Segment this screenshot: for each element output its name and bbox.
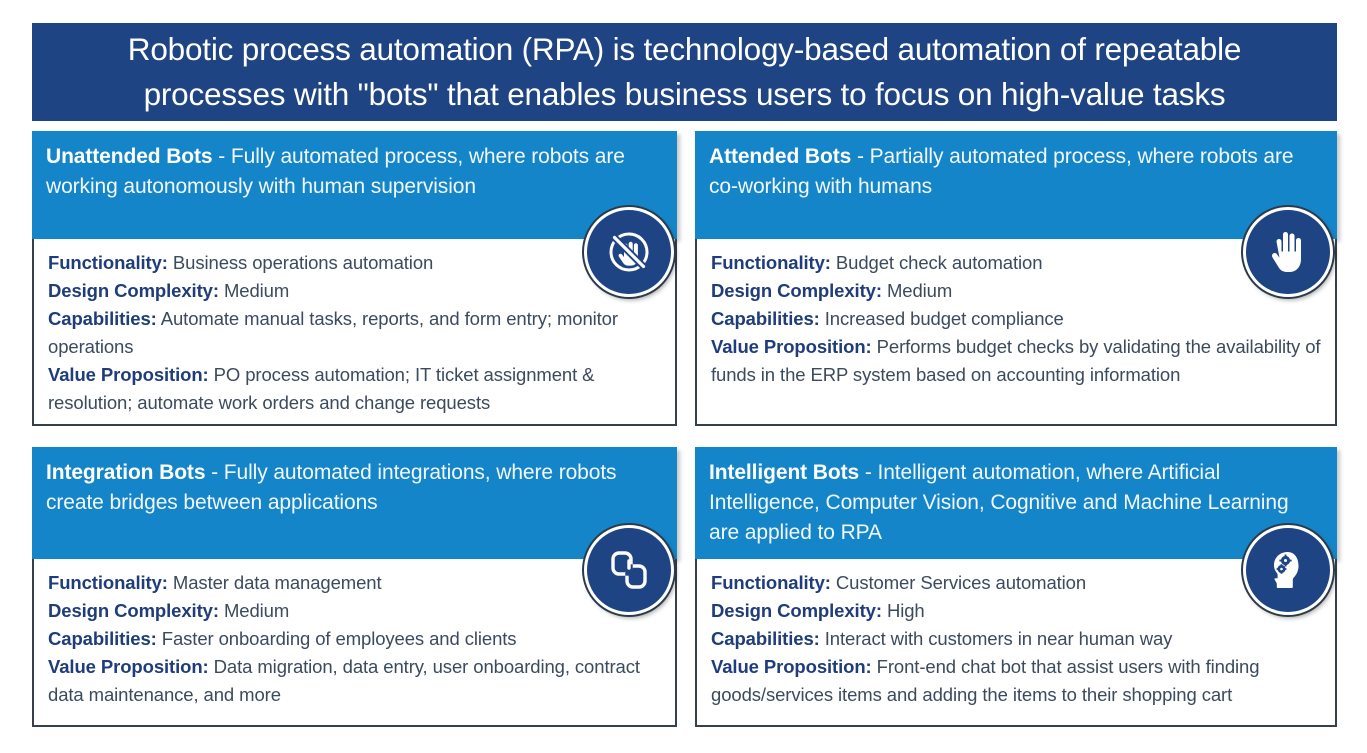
label-capabilities: Capabilities: [711, 628, 820, 649]
card-header-integration: Integration Bots - Fully automated integ… [32, 447, 677, 559]
header-banner: Robotic process automation (RPA) is tech… [32, 23, 1337, 121]
card-body-integration: Functionality: Master data management De… [32, 559, 677, 727]
page-title: Robotic process automation (RPA) is tech… [58, 27, 1311, 117]
card-title-dash: - [859, 461, 877, 484]
card-header-intelligent: Intelligent Bots - Intelligent automatio… [695, 447, 1337, 559]
card-attended-bots: Attended Bots - Partially automated proc… [695, 131, 1337, 426]
label-design-complexity: Design Complexity: [48, 600, 219, 621]
label-value-proposition: Value Proposition: [711, 656, 872, 677]
label-capabilities: Capabilities: [48, 628, 157, 649]
card-body-unattended: Functionality: Business operations autom… [32, 239, 677, 426]
card-title-text: Attended Bots [709, 145, 851, 168]
label-capabilities: Capabilities: [711, 308, 820, 329]
card-title-intelligent: Intelligent Bots - Intelligent automatio… [709, 458, 1323, 548]
value-design-complexity: Medium [224, 600, 289, 621]
row-functionality: Functionality: Customer Services automat… [711, 569, 1321, 597]
row-design-complexity: Design Complexity: Medium [711, 277, 1321, 305]
card-intelligent-bots: Intelligent Bots - Intelligent automatio… [695, 447, 1337, 727]
row-value-proposition: Value Proposition: Performs budget check… [711, 333, 1321, 389]
value-functionality: Customer Services automation [836, 572, 1086, 593]
row-design-complexity: Design Complexity: High [711, 597, 1321, 625]
row-functionality: Functionality: Business operations autom… [48, 249, 661, 277]
card-title-unattended: Unattended Bots - Fully automated proces… [46, 142, 663, 202]
value-capabilities: Faster onboarding of employees and clien… [162, 628, 517, 649]
value-functionality: Budget check automation [836, 252, 1042, 273]
label-value-proposition: Value Proposition: [48, 656, 209, 677]
card-header-unattended: Unattended Bots - Fully automated proces… [32, 131, 677, 239]
label-design-complexity: Design Complexity: [711, 600, 882, 621]
card-title-attended: Attended Bots - Partially automated proc… [709, 142, 1323, 202]
value-design-complexity: Medium [887, 280, 952, 301]
card-integration-bots: Integration Bots - Fully automated integ… [32, 447, 677, 727]
value-capabilities: Increased budget compliance [825, 308, 1064, 329]
card-title-text: Intelligent Bots [709, 461, 859, 484]
row-value-proposition: Value Proposition: Front-end chat bot th… [711, 653, 1321, 709]
card-body-attended: Functionality: Budget check automation D… [695, 239, 1337, 426]
row-capabilities: Capabilities: Automate manual tasks, rep… [48, 305, 661, 361]
label-design-complexity: Design Complexity: [48, 280, 219, 301]
row-design-complexity: Design Complexity: Medium [48, 277, 661, 305]
label-value-proposition: Value Proposition: [48, 364, 209, 385]
value-capabilities: Interact with customers in near human wa… [825, 628, 1173, 649]
value-functionality: Master data management [173, 572, 382, 593]
row-capabilities: Capabilities: Interact with customers in… [711, 625, 1321, 653]
row-capabilities: Capabilities: Increased budget complianc… [711, 305, 1321, 333]
label-functionality: Functionality: [48, 252, 168, 273]
card-header-attended: Attended Bots - Partially automated proc… [695, 131, 1337, 239]
card-unattended-bots: Unattended Bots - Fully automated proces… [32, 131, 677, 426]
label-capabilities: Capabilities: [48, 308, 157, 329]
value-functionality: Business operations automation [173, 252, 433, 273]
value-design-complexity: High [887, 600, 925, 621]
head-with-gears-icon [1243, 525, 1333, 615]
label-functionality: Functionality: [711, 572, 831, 593]
card-title-integration: Integration Bots - Fully automated integ… [46, 458, 663, 518]
card-body-intelligent: Functionality: Customer Services automat… [695, 559, 1337, 727]
value-design-complexity: Medium [224, 280, 289, 301]
row-value-proposition: Value Proposition: PO process automation… [48, 361, 661, 417]
row-design-complexity: Design Complexity: Medium [48, 597, 661, 625]
row-value-proposition: Value Proposition: Data migration, data … [48, 653, 661, 709]
card-title-dash: - [205, 461, 223, 484]
no-hand-icon [584, 207, 674, 297]
link-chain-icon [584, 525, 674, 615]
open-hand-icon [1243, 207, 1333, 297]
card-title-dash: - [851, 145, 869, 168]
row-functionality: Functionality: Budget check automation [711, 249, 1321, 277]
row-capabilities: Capabilities: Faster onboarding of emplo… [48, 625, 661, 653]
label-functionality: Functionality: [48, 572, 168, 593]
card-title-dash: - [213, 145, 231, 168]
label-value-proposition: Value Proposition: [711, 336, 872, 357]
row-functionality: Functionality: Master data management [48, 569, 661, 597]
card-title-text: Integration Bots [46, 461, 205, 484]
label-design-complexity: Design Complexity: [711, 280, 882, 301]
card-title-text: Unattended Bots [46, 145, 213, 168]
label-functionality: Functionality: [711, 252, 831, 273]
